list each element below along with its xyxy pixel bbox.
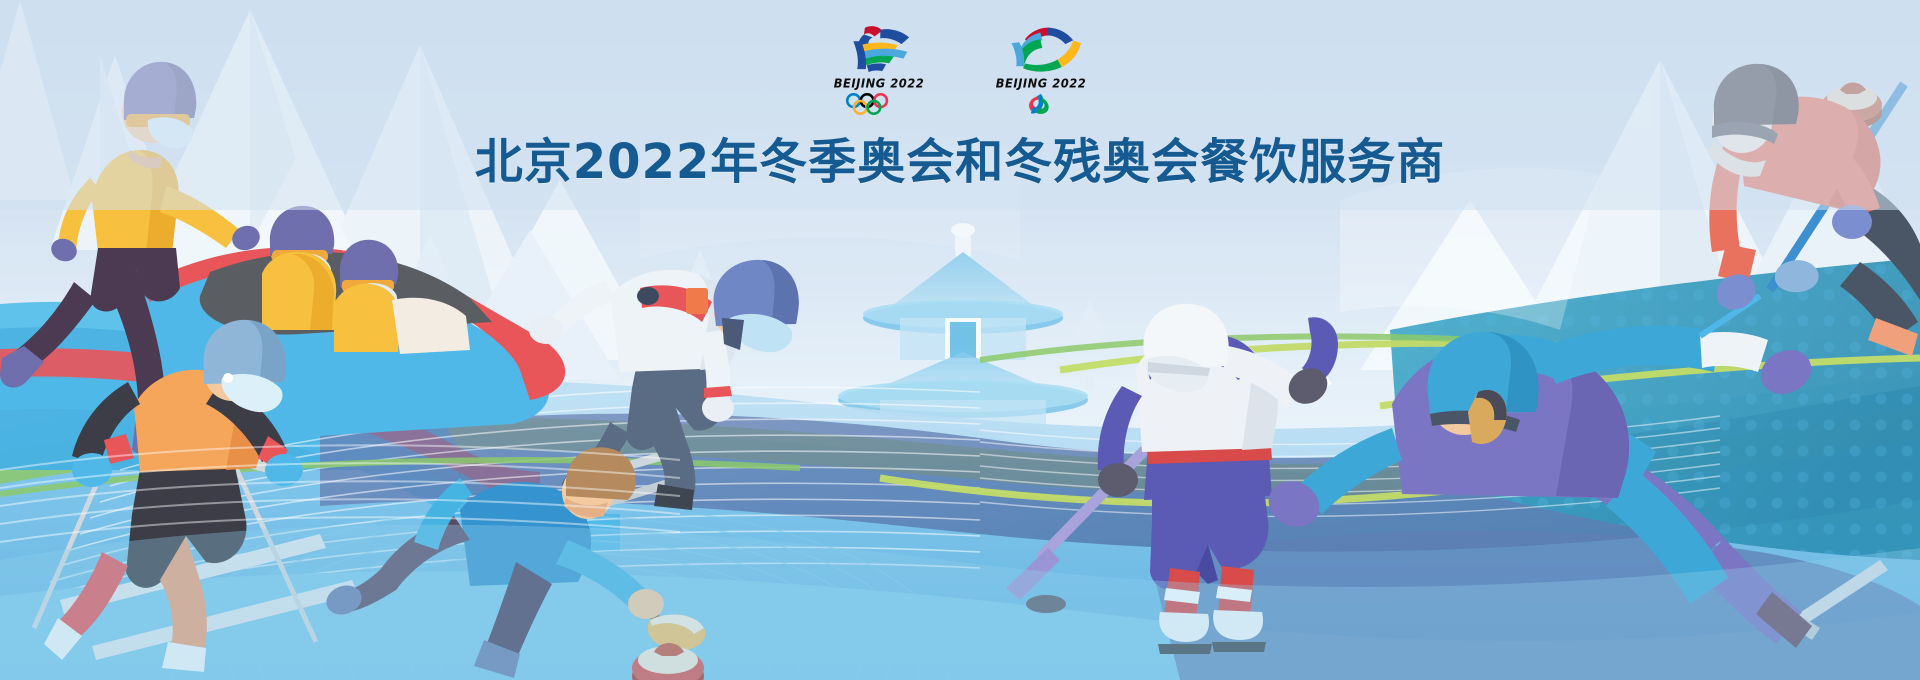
olympic-rings-icon xyxy=(840,93,918,115)
winter-dream-emblem-icon xyxy=(836,22,923,74)
olympic-banner: BEIJING 2022 BEIJIN xyxy=(0,0,1920,680)
beijing-2022-paralympic-emblem: BEIJING 2022 xyxy=(989,22,1093,115)
emblem-row: BEIJING 2022 BEIJIN xyxy=(0,22,1920,115)
bobsled-rider-2 xyxy=(334,240,400,352)
page-title: 北京2022年冬季奥会和冬残奥会餐饮服务商 xyxy=(475,122,1446,192)
beijing-2022-olympic-emblem: BEIJING 2022 xyxy=(827,22,931,115)
paralympic-wordmark: BEIJING 2022 xyxy=(996,75,1087,90)
banner-title-wrap: 北京2022年冬季奥会和冬残奥会餐饮服务商 xyxy=(0,122,1920,192)
olympic-wordmark: BEIJING 2022 xyxy=(834,75,925,90)
paralympic-agitos-icon xyxy=(1002,93,1080,115)
flight-emblem-icon xyxy=(998,22,1085,74)
